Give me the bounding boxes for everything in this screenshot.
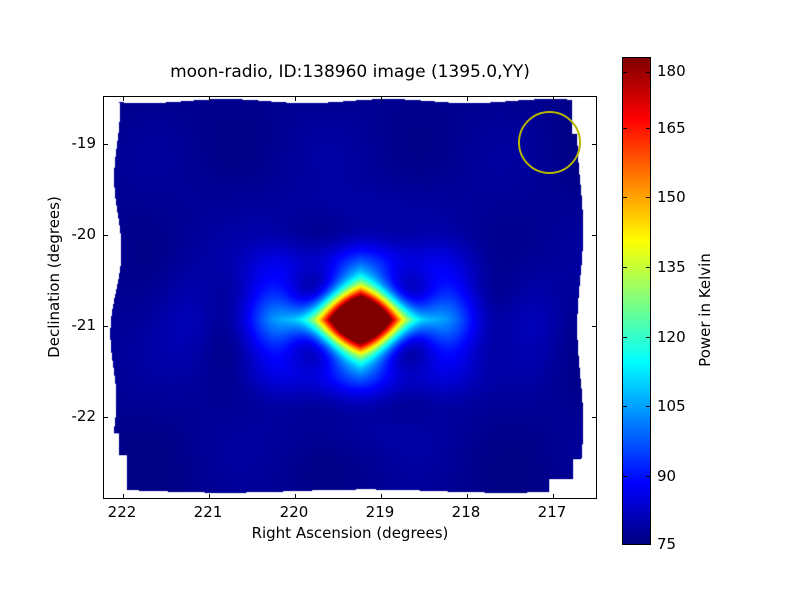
colorbar-tick-right [646,337,650,338]
figure-canvas: moon-radio, ID:138960 image (1395.0,YY) … [0,0,800,600]
ytick-label: -21 [72,316,97,334]
colorbar-tick-label: 120 [657,328,686,346]
ytick-label: -19 [72,134,97,152]
colorbar-tick-right [646,406,650,407]
colorbar-tick [623,406,627,407]
y-axis-label: Declination (degrees) [45,147,63,407]
colorbar-tick-right [646,476,650,477]
colorbar-tick-label: 105 [657,397,686,415]
page-title: moon-radio, ID:138960 image (1395.0,YY) [103,62,597,82]
ytick-mark-right [592,326,596,327]
colorbar-tick-label: 180 [657,62,686,80]
colorbar-tick-right [646,197,650,198]
colorbar-label: Power in Kelvin [696,200,714,420]
xtick-label: 217 [538,503,567,521]
xtick-label: 218 [452,503,481,521]
xtick-mark [295,494,296,498]
ytick-mark [104,235,108,236]
ytick-label: -22 [72,407,97,425]
ytick-label: -20 [72,225,97,243]
xtick-mark-top [295,97,296,101]
xtick-mark [553,494,554,498]
xtick-mark [381,494,382,498]
colorbar-tick-label: 150 [657,188,686,206]
xtick-mark [467,494,468,498]
ytick-mark [104,417,108,418]
xtick-mark-top [209,97,210,101]
ytick-mark-right [592,144,596,145]
colorbar-tick-label: 90 [657,467,676,485]
colorbar-tick-label: 165 [657,119,686,137]
xtick-mark [209,494,210,498]
xtick-mark-top [553,97,554,101]
colorbar-tick-right [646,267,650,268]
xtick-label: 219 [366,503,395,521]
colorbar-gradient [623,58,650,544]
colorbar-tick [623,128,627,129]
xtick-mark-top [381,97,382,101]
ytick-mark [104,326,108,327]
colorbar-tick [623,337,627,338]
image-plot-axes[interactable] [103,96,597,499]
xtick-mark-top [467,97,468,101]
ytick-mark-right [592,417,596,418]
colorbar-tick-right [646,128,650,129]
beam-circle-annotation [518,111,581,174]
colorbar-tick-label: 75 [657,535,676,553]
x-axis-label: Right Ascension (degrees) [103,524,597,542]
colorbar-tick [623,197,627,198]
xtick-mark [123,494,124,498]
colorbar-tick [623,72,627,73]
colorbar-tick-right [646,72,650,73]
xtick-label: 221 [194,503,223,521]
colorbar[interactable] [622,57,651,545]
ytick-mark [104,144,108,145]
colorbar-tick [623,476,627,477]
xtick-label: 220 [280,503,309,521]
colorbar-tick [623,267,627,268]
xtick-label: 222 [108,503,137,521]
colorbar-tick-label: 135 [657,258,686,276]
ytick-mark-right [592,235,596,236]
xtick-mark-top [123,97,124,101]
